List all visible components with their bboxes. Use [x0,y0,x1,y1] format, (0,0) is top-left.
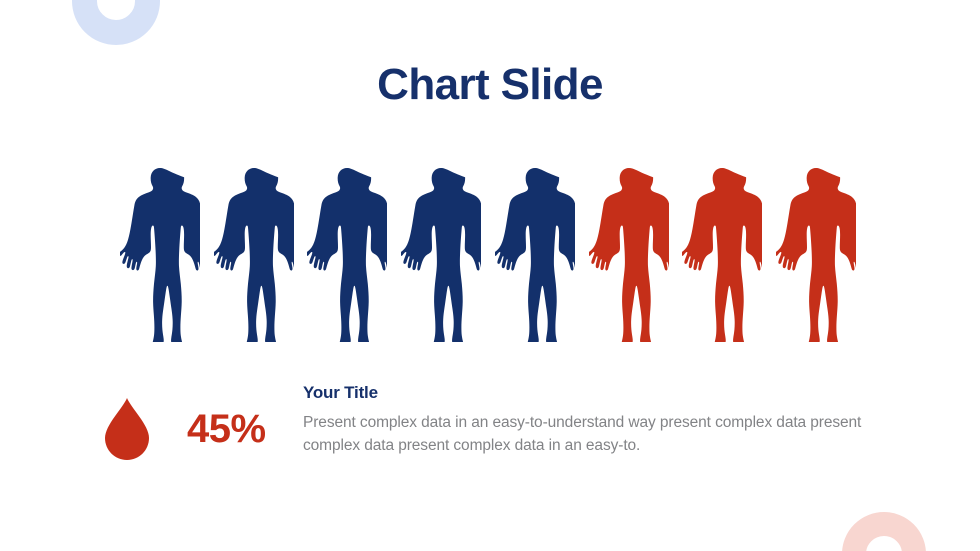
chart-slide: Chart Slide [0,0,980,551]
stat-percentage: 45% [187,409,291,449]
body-figure-1 [120,166,200,342]
stat-description: Present complex data in an easy-to-under… [303,412,893,457]
decorative-ring-pink-icon [842,512,926,551]
stat-title: Your Title [303,383,893,403]
body-figure-6 [589,166,669,342]
body-figure-7 [682,166,762,342]
body-figure-4 [401,166,481,342]
body-figure-8 [776,166,856,342]
stat-text-block: Your Title Present complex data in an ea… [303,383,893,457]
stat-row: 45% Your Title Present complex data in a… [103,383,893,473]
body-figure-2 [214,166,294,342]
page-title: Chart Slide [0,61,980,109]
blood-drop-icon [103,397,151,461]
body-figure-3 [307,166,387,342]
body-figure-5 [495,166,575,342]
pictogram-figure-row [120,166,856,342]
decorative-ring-blue-icon [72,0,160,45]
